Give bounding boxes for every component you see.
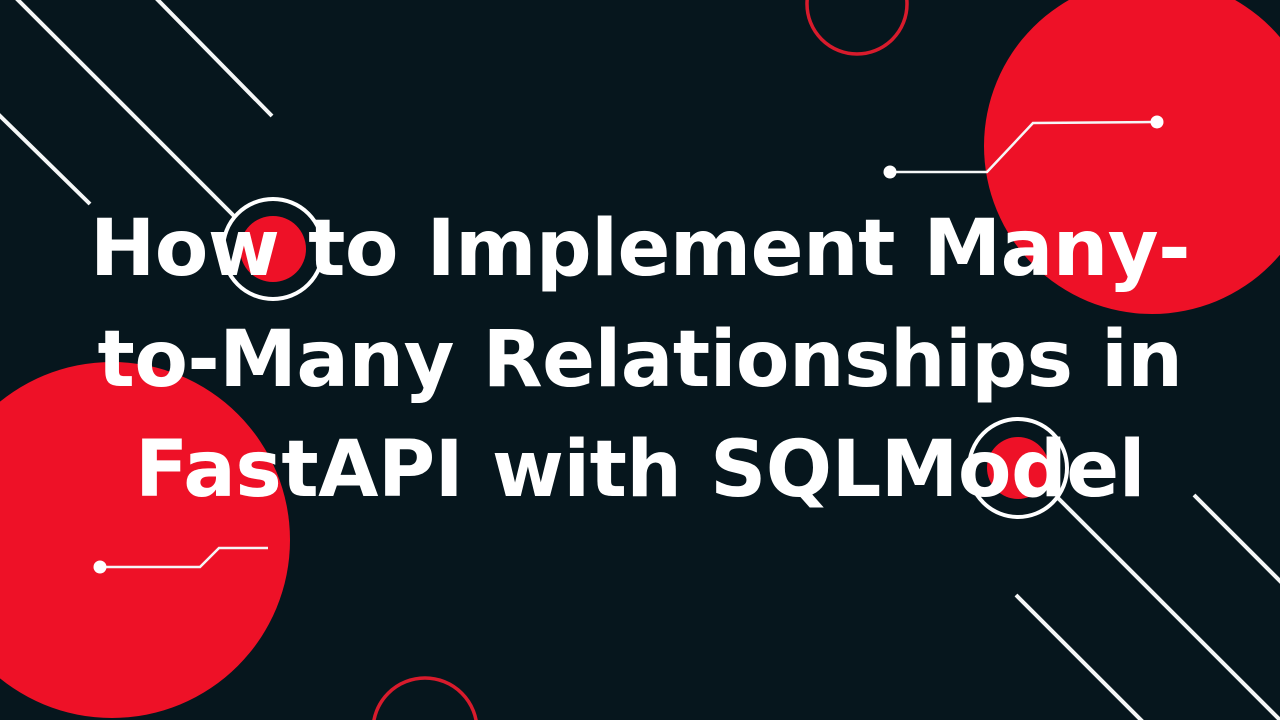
connector-endpoint-dot <box>884 166 897 179</box>
slide-background-graphics <box>0 0 1280 720</box>
connector-endpoint-dot <box>94 561 107 574</box>
connector-endpoint-dot <box>1151 116 1164 129</box>
presentation-slide: How to Implement Many-to-Many Relationsh… <box>0 0 1280 720</box>
red-dot-icon <box>987 437 1049 499</box>
red-dot-icon <box>240 216 306 282</box>
